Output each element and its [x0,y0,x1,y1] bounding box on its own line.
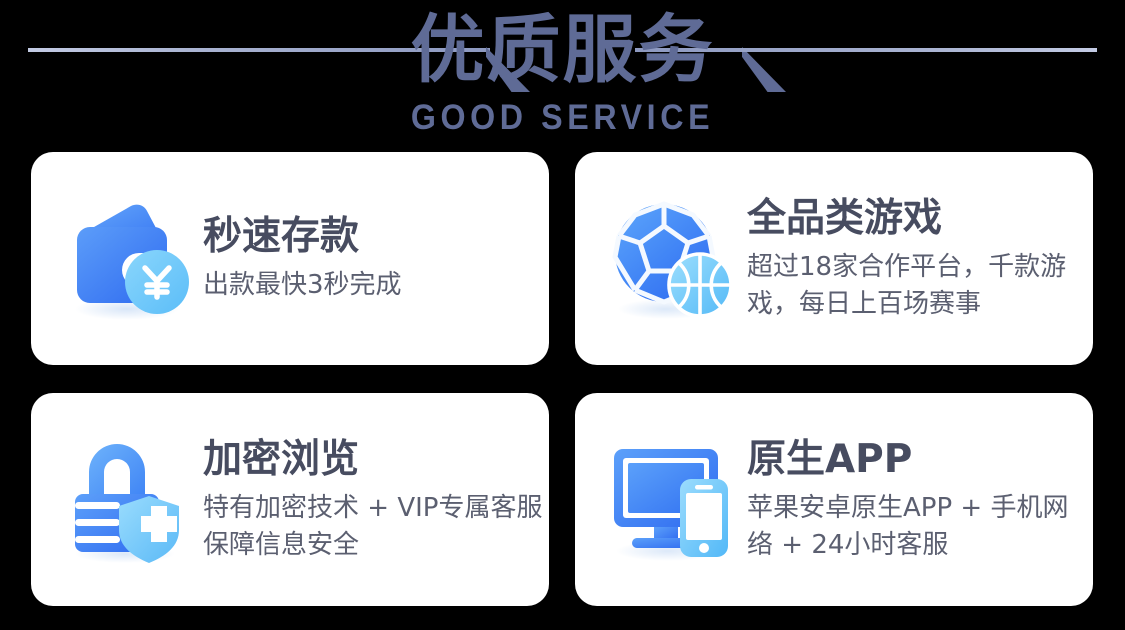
header: 优质服务 GOOD SERVICE [0,0,1125,148]
card-subtitle: 出款最快3秒完成 [203,267,402,304]
feature-card-encryption[interactable]: 加密浏览 特有加密技术 + VIP专属客服保障信息安全 [31,393,549,606]
feature-card-games[interactable]: 全品类游戏 超过18家合作平台，千款游戏，每日上百场赛事 [575,152,1093,365]
card-subtitle: 苹果安卓原生APP + 手机网络 + 24小时客服 [747,490,1087,564]
card-subtitle: 特有加密技术 + VIP专属客服保障信息安全 [203,490,543,564]
card-text-block: 秒速存款 出款最快3秒完成 [203,213,402,304]
promo-banner: 优质服务 GOOD SERVICE [0,0,1125,630]
page-subtitle: GOOD SERVICE [45,98,1080,138]
card-subtitle: 超过18家合作平台，千款游戏，每日上百场赛事 [747,249,1087,323]
feature-card-native-app[interactable]: 原生APP 苹果安卓原生APP + 手机网络 + 24小时客服 [575,393,1093,606]
feature-card-deposit[interactable]: 秒速存款 出款最快3秒完成 [31,152,549,365]
monitor-phone-icon [601,430,741,570]
card-title: 秒速存款 [203,213,402,261]
card-text-block: 加密浏览 特有加密技术 + VIP专属客服保障信息安全 [203,436,543,564]
card-title: 原生APP [747,436,1087,484]
card-text-block: 全品类游戏 超过18家合作平台，千款游戏，每日上百场赛事 [747,195,1087,323]
wallet-yen-icon [57,189,197,329]
soccer-basketball-icon [601,189,741,329]
card-text-block: 原生APP 苹果安卓原生APP + 手机网络 + 24小时客服 [747,436,1087,564]
feature-card-grid: 秒速存款 出款最快3秒完成 [31,152,1093,606]
lock-shield-icon [57,430,197,570]
page-title: 优质服务 [0,8,1125,92]
card-title: 全品类游戏 [747,195,1087,243]
card-title: 加密浏览 [203,436,543,484]
